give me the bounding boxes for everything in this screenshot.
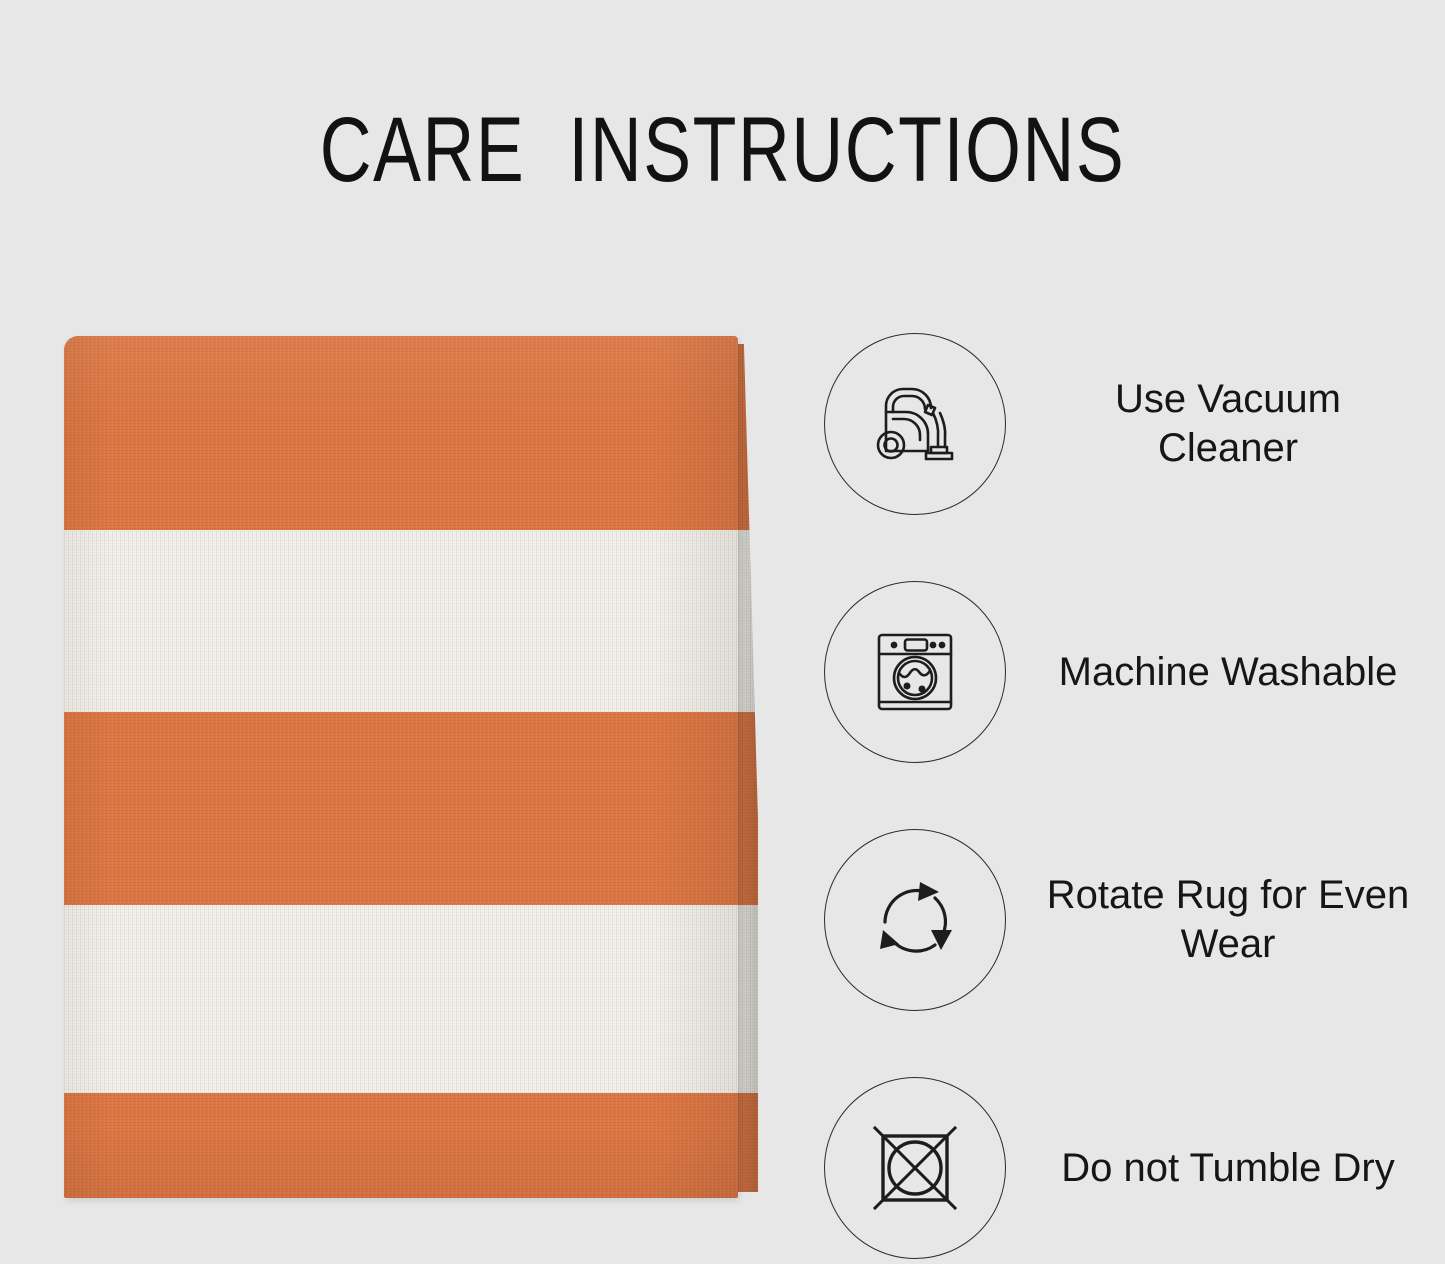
product-image — [64, 336, 764, 1208]
instruction-label: Rotate Rug for Even Wear — [1042, 871, 1424, 969]
instruction-row-machine-washable: Machine Washable — [824, 548, 1424, 796]
care-instruction-list: Use Vacuum Cleaner — [824, 300, 1424, 1264]
instruction-row-no-tumble-dry: Do not Tumble Dry — [824, 1044, 1424, 1264]
instruction-label: Do not Tumble Dry — [1042, 1144, 1424, 1193]
instruction-row-rotate: Rotate Rug for Even Wear — [824, 796, 1424, 1044]
rug-face — [64, 336, 738, 1198]
washing-machine-icon — [824, 581, 1006, 763]
rotate-arrows-icon — [824, 829, 1006, 1011]
no-tumble-dry-icon — [824, 1077, 1006, 1259]
instruction-row-vacuum: Use Vacuum Cleaner — [824, 300, 1424, 548]
rug-weft-texture — [64, 336, 738, 1198]
page-title: CARE INSTRUCTIONS — [159, 104, 1286, 196]
instruction-label: Use Vacuum Cleaner — [1042, 375, 1424, 473]
vacuum-cleaner-icon — [824, 333, 1006, 515]
instruction-label: Machine Washable — [1042, 648, 1424, 697]
care-instructions-page: CARE INSTRUCTIONS — [0, 0, 1445, 1264]
